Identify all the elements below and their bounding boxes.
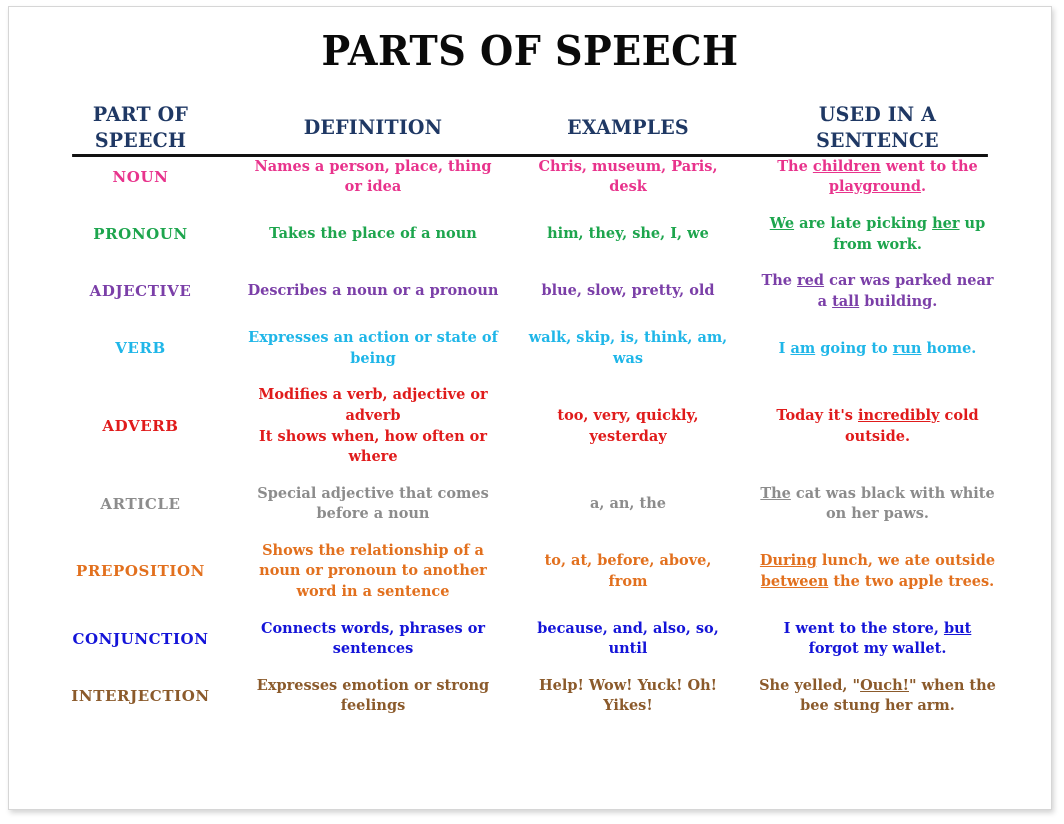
part-of-speech-label: NOUN [48, 157, 233, 198]
definition-line: Connects words, phrases or sentences [247, 619, 499, 660]
definition-cell: Takes the place of a noun [233, 214, 513, 255]
column-header-examples: EXAMPLES [519, 101, 738, 154]
header-row: PART OF SPEECH DEFINITION EXAMPLES USED … [48, 101, 1012, 154]
definition-line: Expresses emotion or strong feelings [247, 676, 499, 717]
definition-line: Shows the relationship of a noun or pron… [247, 541, 499, 603]
row-spacer-cell [48, 198, 1012, 214]
document-page: PARTS OF SPEECH PART OF SPEECH DEFINITIO… [8, 6, 1052, 810]
part-of-speech-label: PRONOUN [48, 214, 233, 255]
row-spacer-cell [48, 369, 1012, 385]
header-line: SENTENCE [816, 128, 939, 152]
underlined-word: between [761, 573, 829, 590]
definition-cell: Special adjective that comes before a no… [233, 484, 513, 525]
examples-cell: walk, skip, is, think, am, was [513, 328, 743, 369]
definition-line: Takes the place of a noun [247, 224, 499, 245]
row-spacer [48, 525, 1012, 541]
row-spacer [48, 603, 1012, 619]
row-spacer [48, 660, 1012, 676]
part-of-speech-label: ARTICLE [48, 484, 233, 525]
header-line: PART OF [93, 102, 188, 126]
sentence-cell: She yelled, "Ouch!" when the bee stung h… [743, 676, 1012, 717]
definition-line: Modifies a verb, adjective or adverb [247, 385, 499, 426]
part-of-speech-label: VERB [48, 328, 233, 369]
underlined-word: her [932, 215, 959, 232]
sentence-cell: The red car was parked near a tall build… [743, 271, 1012, 312]
underlined-word: The [760, 485, 791, 502]
table-row: CONJUNCTIONConnects words, phrases or se… [48, 619, 1012, 660]
examples-cell: because, and, also, so, until [513, 619, 743, 660]
table-row: PREPOSITIONShows the relationship of a n… [48, 541, 1012, 603]
definition-line: Describes a noun or a pronoun [247, 281, 499, 302]
table-body: NOUNNames a person, place, thing or idea… [48, 157, 1012, 717]
parts-of-speech-table: PART OF SPEECH DEFINITION EXAMPLES USED … [48, 101, 1012, 717]
part-of-speech-label: CONJUNCTION [48, 619, 233, 660]
examples-cell: Chris, museum, Paris, desk [513, 157, 743, 198]
column-header-definition: DEFINITION [240, 101, 506, 154]
row-spacer-cell [48, 255, 1012, 271]
row-spacer-cell [48, 525, 1012, 541]
underlined-word: tall [832, 293, 859, 310]
row-spacer [48, 369, 1012, 385]
row-spacer [48, 198, 1012, 214]
examples-cell: him, they, she, I, we [513, 214, 743, 255]
definition-line: Special adjective that comes before a no… [247, 484, 499, 525]
header-line: EXAMPLES [567, 115, 689, 139]
row-spacer-cell [48, 312, 1012, 328]
sentence-cell: Today it's incredibly cold outside. [743, 385, 1012, 467]
sentence-cell: I went to the store, but forgot my walle… [743, 619, 1012, 660]
page-title: PARTS OF SPEECH [45, 7, 1014, 75]
row-spacer [48, 468, 1012, 484]
row-spacer-cell [48, 468, 1012, 484]
table-row: VERBExpresses an action or state of bein… [48, 328, 1012, 369]
row-spacer-cell [48, 660, 1012, 676]
table-row: INTERJECTIONExpresses emotion or strong … [48, 676, 1012, 717]
header-line: USED IN A [819, 102, 936, 126]
column-header-part-of-speech: PART OF SPEECH [53, 101, 229, 154]
part-of-speech-label: PREPOSITION [48, 541, 233, 603]
examples-cell: to, at, before, above, from [513, 541, 743, 603]
row-spacer [48, 255, 1012, 271]
sentence-cell: The cat was black with white on her paws… [743, 484, 1012, 525]
table-header: PART OF SPEECH DEFINITION EXAMPLES USED … [48, 101, 1012, 157]
definition-cell: Names a person, place, thing or idea [233, 157, 513, 198]
underlined-word: red [797, 272, 824, 289]
header-rule [72, 154, 988, 157]
sentence-cell: We are late picking her up from work. [743, 214, 1012, 255]
underlined-word: run [893, 340, 922, 357]
part-of-speech-label: ADJECTIVE [48, 271, 233, 312]
part-of-speech-label: ADVERB [48, 385, 233, 467]
table-row: ARTICLESpecial adjective that comes befo… [48, 484, 1012, 525]
definition-cell: Modifies a verb, adjective or adverbIt s… [233, 385, 513, 467]
column-header-used-in-a-sentence: USED IN A SENTENCE [750, 101, 1006, 154]
header-line: SPEECH [95, 128, 186, 152]
definition-cell: Describes a noun or a pronoun [233, 271, 513, 312]
definition-cell: Expresses an action or state of being [233, 328, 513, 369]
underlined-word: children [813, 158, 881, 175]
header-divider-cell [72, 154, 988, 157]
definition-cell: Connects words, phrases or sentences [233, 619, 513, 660]
header-line: DEFINITION [304, 115, 442, 139]
row-spacer-cell [48, 603, 1012, 619]
definition-cell: Expresses emotion or strong feelings [233, 676, 513, 717]
definition-line: It shows when, how often or where [247, 427, 499, 468]
part-of-speech-label: INTERJECTION [48, 676, 233, 717]
table-row: PRONOUNTakes the place of a nounhim, the… [48, 214, 1012, 255]
definition-line: Names a person, place, thing or idea [247, 157, 499, 198]
sentence-cell: The children went to the playground. [743, 157, 1012, 198]
underlined-word: Ouch! [860, 677, 909, 694]
examples-cell: a, an, the [513, 484, 743, 525]
sentence-cell: During lunch, we ate outside between the… [743, 541, 1012, 603]
underlined-word: am [790, 340, 815, 357]
underlined-word: but [944, 620, 971, 637]
header-divider-row [48, 154, 1012, 157]
sentence-cell: I am going to run home. [743, 328, 1012, 369]
row-spacer [48, 312, 1012, 328]
definition-line: Expresses an action or state of being [247, 328, 499, 369]
underlined-word: incredibly [858, 407, 939, 424]
examples-cell: blue, slow, pretty, old [513, 271, 743, 312]
underlined-word: playground [829, 178, 921, 195]
examples-cell: too, very, quickly, yesterday [513, 385, 743, 467]
underlined-word: During [760, 552, 817, 569]
table-row: ADJECTIVEDescribes a noun or a pronounbl… [48, 271, 1012, 312]
examples-cell: Help! Wow! Yuck! Oh! Yikes! [513, 676, 743, 717]
table-row: NOUNNames a person, place, thing or idea… [48, 157, 1012, 198]
underlined-word: We [770, 215, 794, 232]
definition-cell: Shows the relationship of a noun or pron… [233, 541, 513, 603]
table-row: ADVERBModifies a verb, adjective or adve… [48, 385, 1012, 467]
